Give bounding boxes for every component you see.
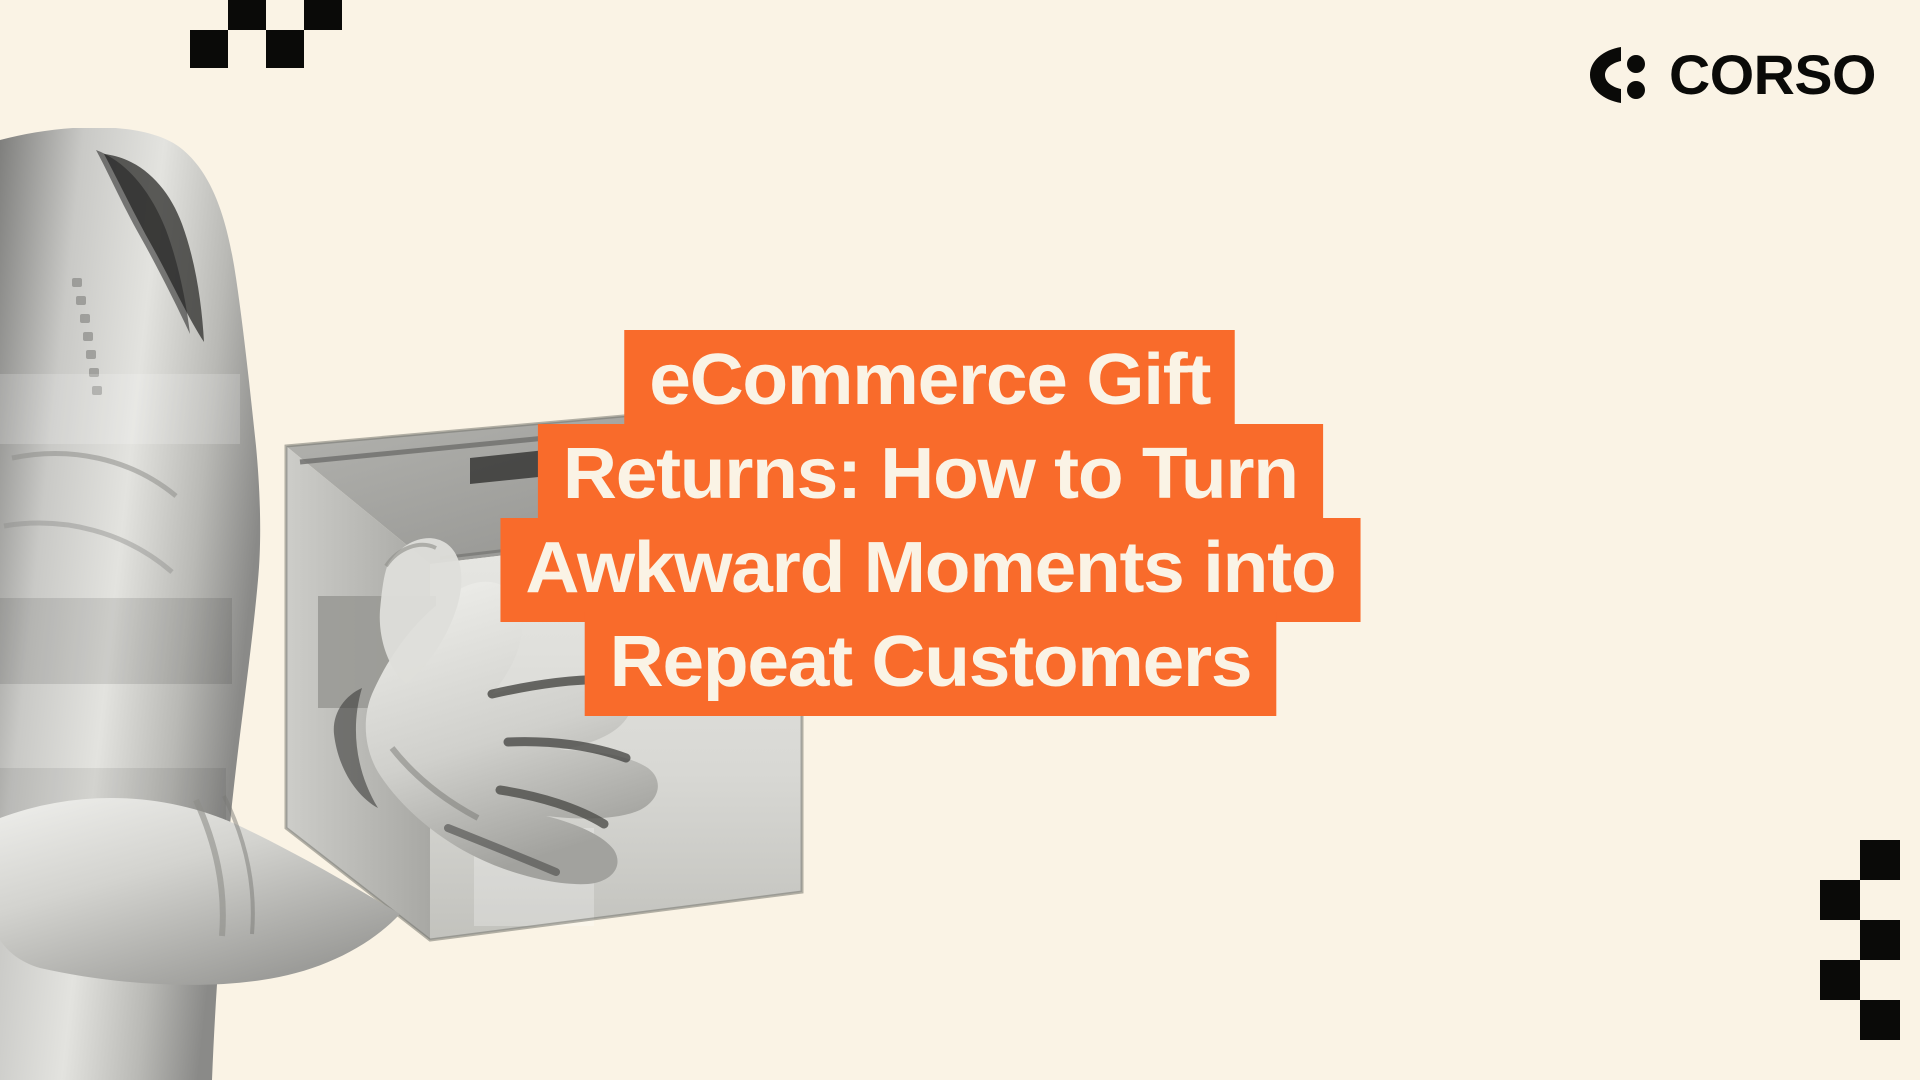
corso-mark-icon (1587, 44, 1649, 106)
corso-logo[interactable]: CORSO (1587, 42, 1874, 108)
checker-top-left-decoration (190, 0, 340, 62)
corso-wordmark: CORSO (1669, 47, 1876, 103)
hero-canvas: CORSO eCommerce Gift Returns: How to Tur… (0, 0, 1920, 1080)
hero-photo (0, 128, 820, 1080)
checker-bottom-right-decoration (1800, 840, 1920, 1080)
